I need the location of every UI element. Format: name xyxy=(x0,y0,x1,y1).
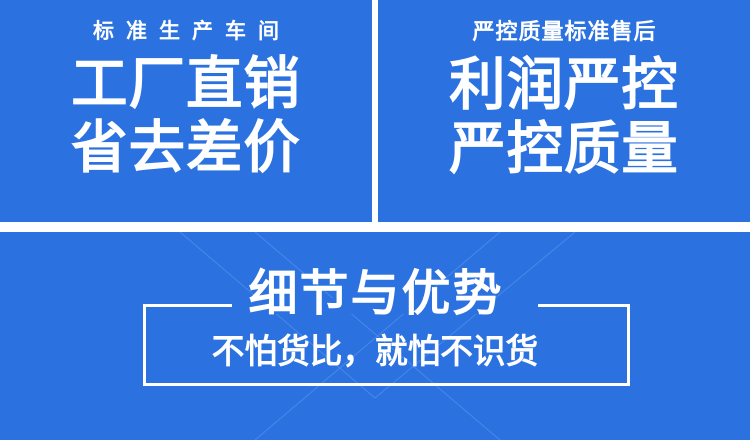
panel-factory-direct-content: 标准生产车间 工厂直销 省去差价 xyxy=(0,0,372,222)
panel-factory-direct-headline-line2: 省去差价 xyxy=(71,118,301,180)
panel-quality-control-headline-line2: 严控质量 xyxy=(449,119,679,181)
panel-quality-control-eyebrow: 严控质量标准售后 xyxy=(471,21,656,43)
top-panel-row: 标准生产车间 工厂直销 省去差价 严控质量标准售后 利润严控 严控质量 xyxy=(0,0,750,222)
panel-details-advantages: 细节与优势 不怕货比，就怕不识货 xyxy=(0,232,750,440)
panel-quality-control-headline-line1: 利润严控 xyxy=(449,55,679,117)
panel-factory-direct-headline-line1: 工厂直销 xyxy=(71,54,301,116)
details-advantages-subtitle: 不怕货比，就怕不识货 xyxy=(15,335,735,369)
panel-quality-control-content: 严控质量标准售后 利润严控 严控质量 xyxy=(378,0,750,222)
details-advantages-title: 细节与优势 xyxy=(0,270,750,319)
panel-quality-control: 严控质量标准售后 利润严控 严控质量 xyxy=(378,0,750,222)
panel-factory-direct-eyebrow: 标准生产车间 xyxy=(81,21,291,42)
promo-banner: 标准生产车间 工厂直销 省去差价 严控质量标准售后 利润严控 严控质量 xyxy=(0,0,750,440)
panel-factory-direct: 标准生产车间 工厂直销 省去差价 xyxy=(0,0,372,222)
